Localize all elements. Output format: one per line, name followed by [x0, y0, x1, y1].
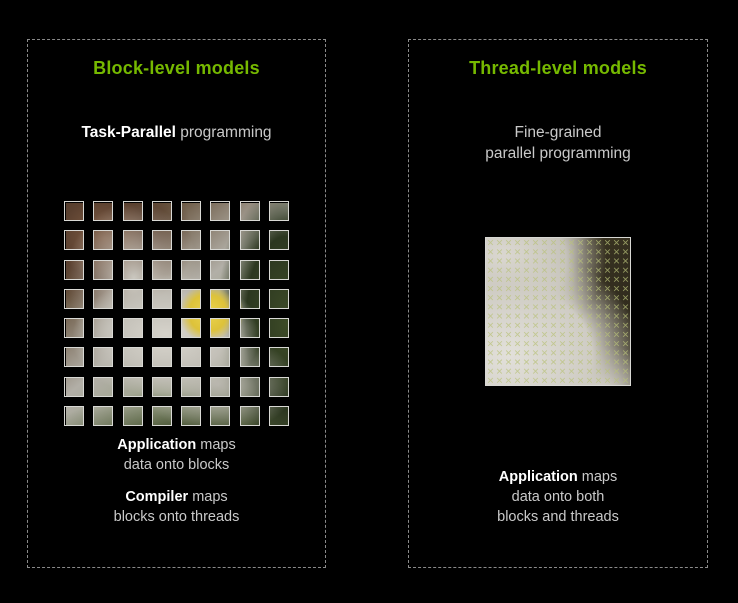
panel-block-level-subtitle: Task-Parallel programming: [28, 122, 325, 143]
block-tile: [210, 318, 230, 338]
footer-application: Application maps data onto blocks: [28, 435, 325, 475]
panel-block-level: Block-level models Task-Parallel program…: [27, 39, 326, 568]
footer-compiler-line1: Compiler maps: [28, 487, 325, 507]
block-tile: [181, 201, 201, 221]
block-tile: [269, 377, 289, 397]
footer-application-threads: Application maps data onto both blocks a…: [409, 467, 707, 527]
block-tile: [269, 289, 289, 309]
block-tile: [152, 406, 172, 426]
block-tile: [240, 377, 260, 397]
block-tile: [152, 377, 172, 397]
block-tile: [240, 230, 260, 250]
block-tile: [240, 201, 260, 221]
block-tile: [269, 260, 289, 280]
thread-mesh-overlay: [486, 238, 630, 385]
footer-application-threads-line2: data onto both: [409, 487, 707, 507]
block-tile: [93, 260, 113, 280]
block-tile: [269, 230, 289, 250]
block-tile: [240, 318, 260, 338]
block-tile: [181, 377, 201, 397]
block-tile: [123, 201, 143, 221]
block-tile: [123, 260, 143, 280]
block-tile: [123, 377, 143, 397]
panel-thread-level-footer: Application maps data onto both blocks a…: [409, 467, 707, 527]
footer-application-threads-strong: Application: [499, 469, 578, 485]
block-tile: [210, 201, 230, 221]
footer-compiler: Compiler maps blocks onto threads: [28, 487, 325, 527]
block-tile: [93, 230, 113, 250]
block-tile: [152, 347, 172, 367]
block-tile: [93, 347, 113, 367]
panel-thread-level-subtitle: Fine-grained parallel programming: [409, 122, 707, 164]
block-tile: [123, 289, 143, 309]
block-tile: [93, 406, 113, 426]
block-tile: [152, 201, 172, 221]
block-tile: [210, 230, 230, 250]
block-grid-figure: [64, 201, 289, 427]
block-tile: [210, 406, 230, 426]
block-tile: [64, 201, 84, 221]
block-tile: [123, 347, 143, 367]
footer-application-threads-line1: Application maps: [409, 467, 707, 487]
slide-canvas: Block-level models Task-Parallel program…: [0, 0, 738, 603]
subtitle-strong: Task-Parallel: [81, 124, 176, 141]
block-tile: [93, 318, 113, 338]
subtitle-line1: Fine-grained: [409, 122, 707, 143]
block-tile: [123, 230, 143, 250]
block-tile: [210, 289, 230, 309]
panel-block-level-title: Block-level models: [28, 58, 325, 79]
subtitle-rest: programming: [176, 124, 272, 141]
block-tile: [181, 260, 201, 280]
footer-application-line2: data onto blocks: [28, 455, 325, 475]
block-tile: [269, 201, 289, 221]
block-tile: [64, 406, 84, 426]
footer-compiler-rest: maps: [188, 489, 228, 505]
subtitle-line2: parallel programming: [409, 143, 707, 164]
block-tile: [181, 318, 201, 338]
block-tile: [269, 406, 289, 426]
block-tile: [64, 347, 84, 367]
block-tile: [64, 230, 84, 250]
block-tile: [152, 289, 172, 309]
block-tile: [181, 347, 201, 367]
block-tile: [123, 318, 143, 338]
footer-application-line1: Application maps: [28, 435, 325, 455]
block-tile: [93, 201, 113, 221]
panel-block-level-footer: Application maps data onto blocks Compil…: [28, 435, 325, 527]
block-tile: [64, 289, 84, 309]
footer-compiler-line2: blocks onto threads: [28, 507, 325, 527]
block-tile: [181, 406, 201, 426]
block-tile: [64, 318, 84, 338]
block-tile: [93, 377, 113, 397]
thread-tile-figure: [485, 237, 631, 386]
block-tile: [210, 260, 230, 280]
block-tile: [93, 289, 113, 309]
block-tile: [152, 230, 172, 250]
block-tile: [269, 347, 289, 367]
block-tile: [64, 377, 84, 397]
block-tile: [210, 347, 230, 367]
block-tile: [123, 406, 143, 426]
footer-compiler-strong: Compiler: [125, 489, 188, 505]
block-tile: [240, 406, 260, 426]
block-tile: [64, 260, 84, 280]
block-tile: [152, 260, 172, 280]
block-tile: [210, 377, 230, 397]
footer-application-strong: Application: [117, 437, 196, 453]
block-tile: [181, 289, 201, 309]
panel-thread-level-title: Thread-level models: [409, 58, 707, 79]
block-tile: [240, 289, 260, 309]
block-tile: [181, 230, 201, 250]
block-tile: [269, 318, 289, 338]
panel-thread-level: Thread-level models Fine-grained paralle…: [408, 39, 708, 568]
footer-application-threads-rest: maps: [578, 469, 618, 485]
block-tile: [240, 260, 260, 280]
block-tile: [240, 347, 260, 367]
footer-application-threads-line3: blocks and threads: [409, 507, 707, 527]
footer-application-rest: maps: [196, 437, 236, 453]
block-tile: [152, 318, 172, 338]
